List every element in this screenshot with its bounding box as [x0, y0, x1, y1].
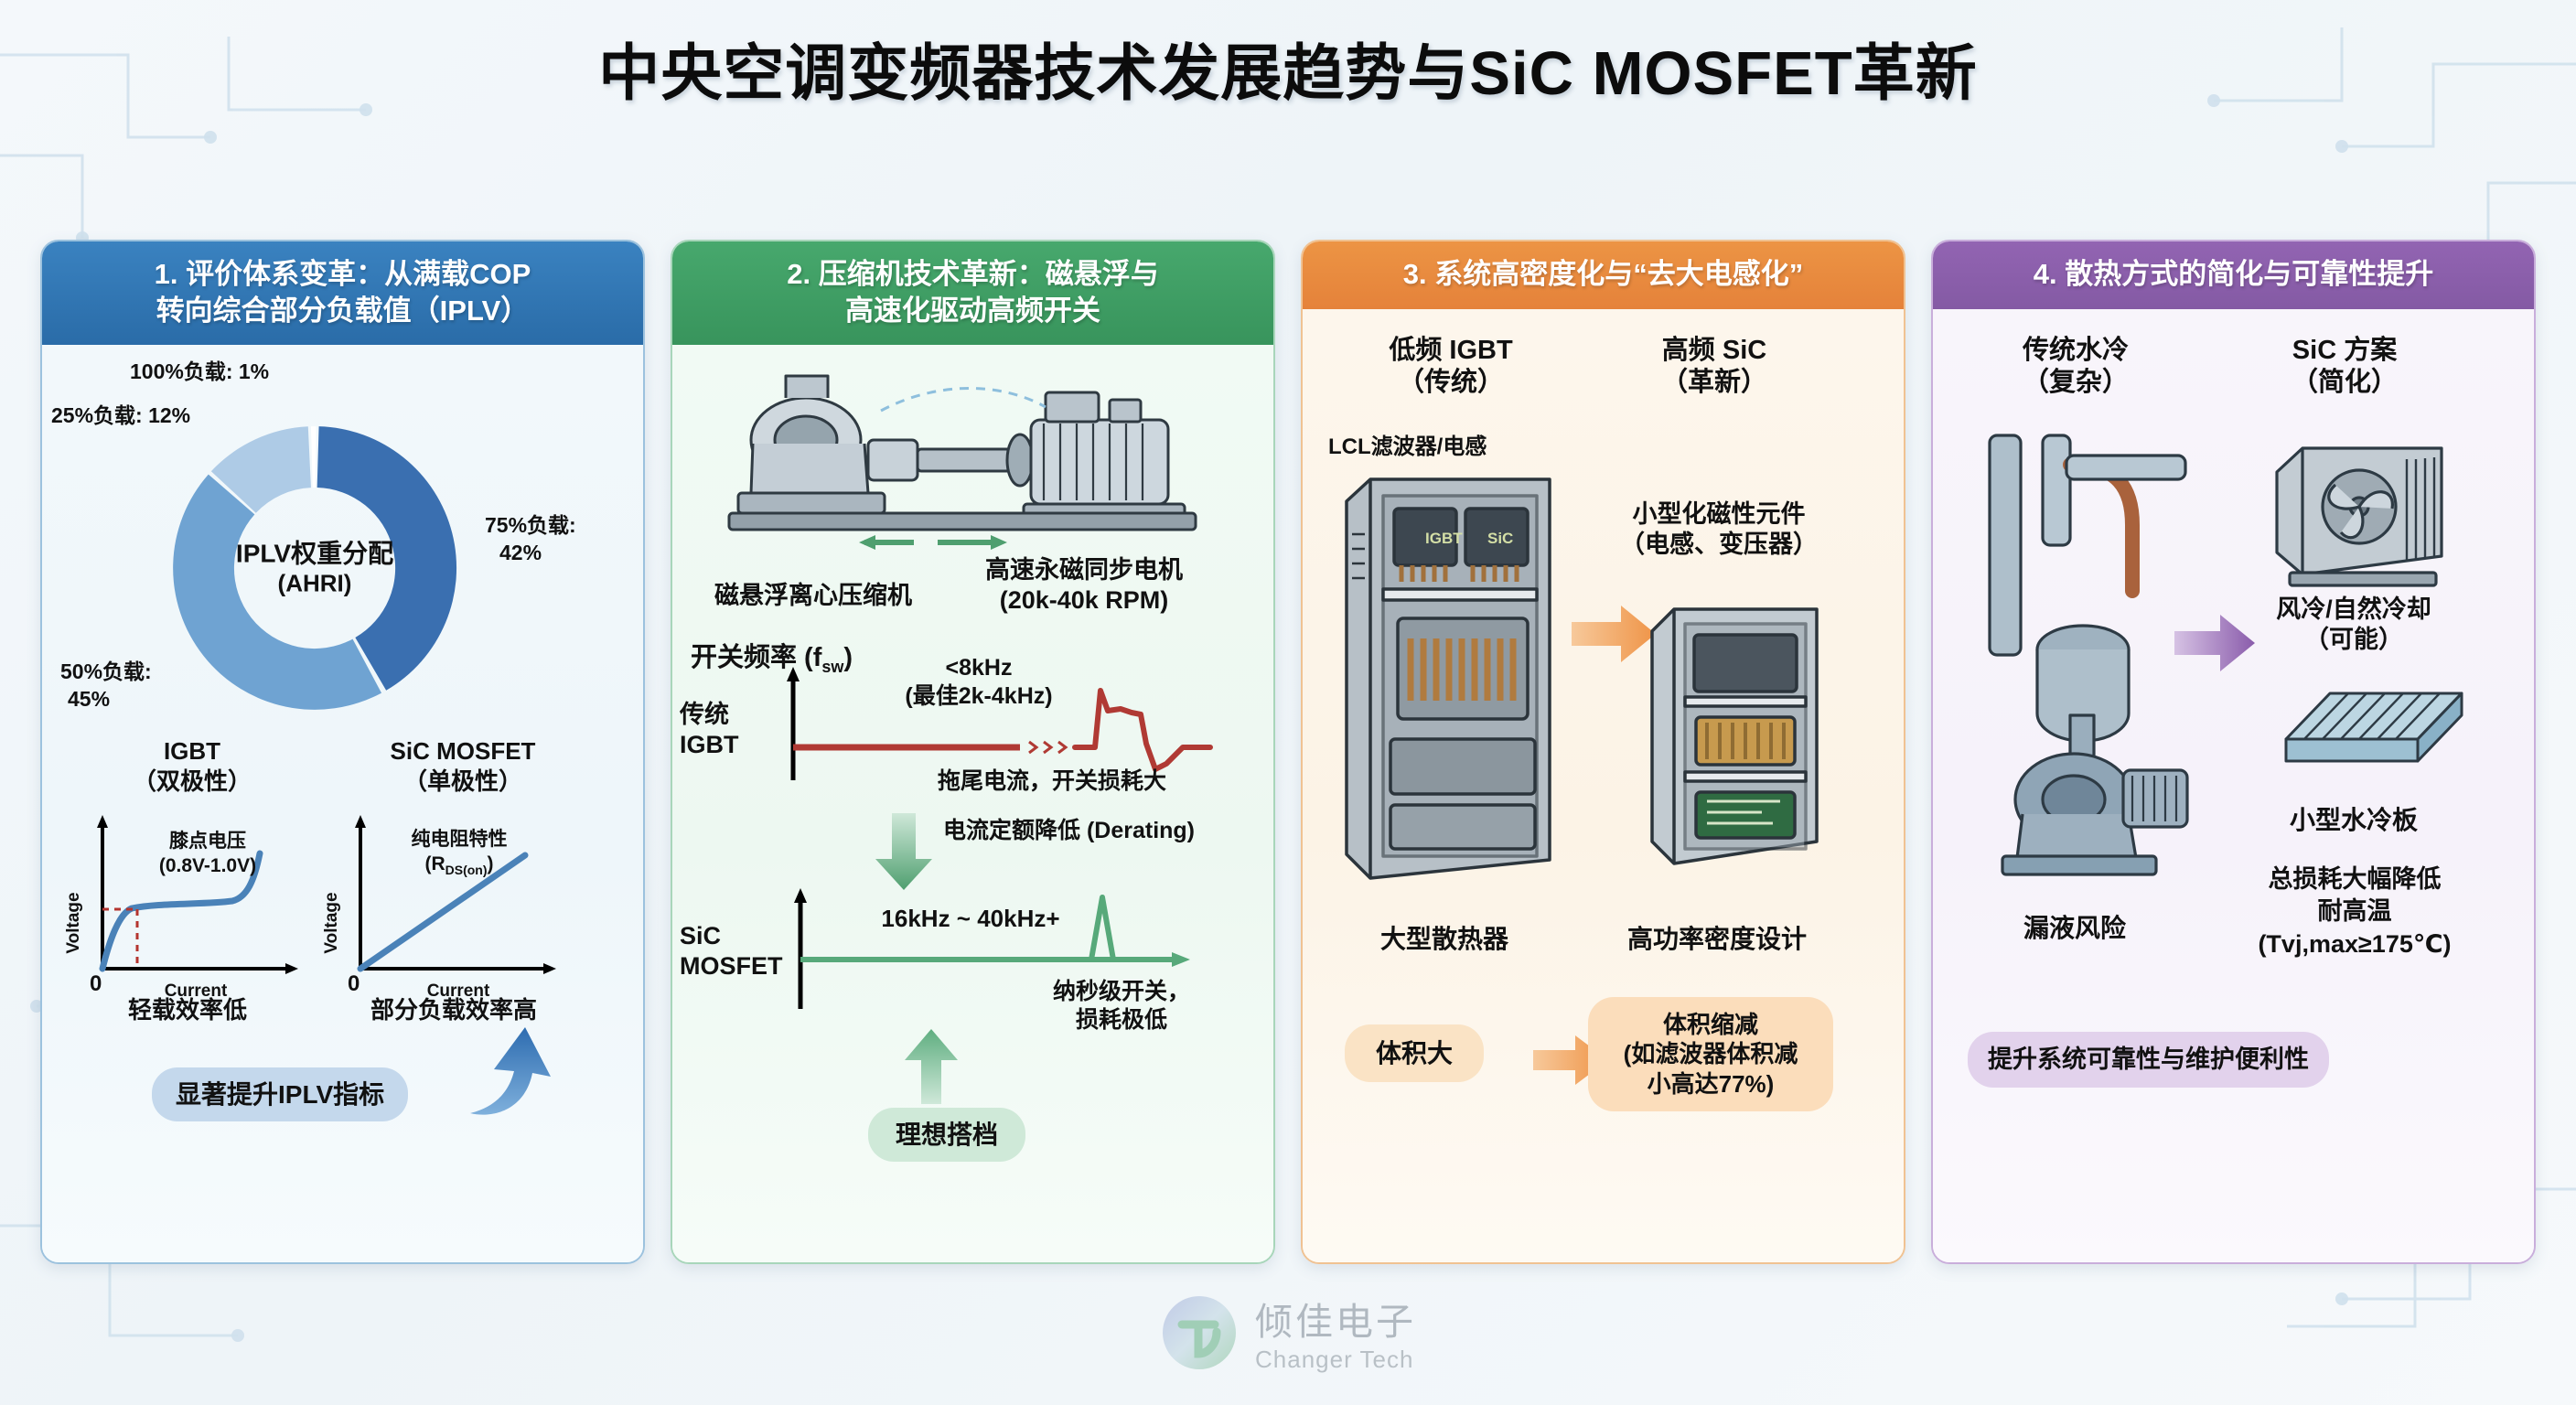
sic-nanosecond-note: 纳秒级开关， 损耗极低 — [1025, 978, 1218, 1034]
sic-row-name: SiC MOSFET — [680, 921, 789, 981]
donut-center-line2: (AHRI) — [236, 570, 393, 598]
pmsm-motor-caption: 高速永磁同步电机 (20k-40k RPM) — [947, 555, 1221, 616]
igbt-row-name: 传统 IGBT — [680, 700, 777, 760]
lcl-filter-label: LCL滤波器/电感 — [1328, 428, 1487, 460]
panel-2-compressor-tech: 2. 压缩机技术革新：磁悬浮与 高速化驱动高频开关 — [671, 240, 1275, 1264]
igbt-freq-note: <8kHz (最佳2k-4kHz) — [874, 654, 1084, 710]
igbt-row-name-l2: IGBT — [680, 730, 777, 760]
panel-1-body: 100%负载: 1% 25%负载: 12% 75%负载: 42% 50%负载: … — [42, 345, 643, 1262]
panel-1-header: 1. 评价体系变革：从满载COP 转向综合部分负载值（IPLV） — [42, 241, 643, 345]
air-cooled-outdoor-unit-illustration — [2262, 428, 2463, 593]
footer-logo: 倾佳电子 Changer Tech — [1160, 1291, 1416, 1374]
changer-tech-logo-icon — [1160, 1293, 1239, 1372]
page-title-wrap: 中央空调变频器技术发展趋势与SiC MOSFET革新 — [0, 24, 2576, 113]
watercooling-l2: （复杂） — [1966, 367, 2185, 399]
large-volume-pill: 体积大 — [1345, 1024, 1484, 1082]
high-freq-sic-l2: （革新） — [1605, 367, 1824, 399]
igbt-freq-l2: (最佳2k-4kHz) — [874, 682, 1084, 711]
large-igbt-cabinet-illustration: IGBT SiC — [1334, 465, 1562, 904]
air-cooling-label: 风冷/自然冷却 （可能） — [2235, 595, 2473, 655]
panel-3-high-density: 3. 系统高密度化与“去大电感化” 低频 IGBT （传统） 高频 SiC （革… — [1301, 240, 1905, 1264]
reliability-pill: 提升系统可靠性与维护便利性 — [1968, 1032, 2329, 1089]
pmsm-caption-l2: (20k-40k RPM) — [947, 585, 1221, 616]
air-cooling-l2: （可能） — [2235, 625, 2473, 655]
panel-3-body: 低频 IGBT （传统） 高频 SiC （革新） LCL滤波器/电感 — [1303, 309, 1904, 1262]
sic-solution-l1: SiC 方案 — [2235, 335, 2454, 367]
compact-cold-plate-illustration — [2273, 673, 2474, 792]
panels-row: 1. 评价体系变革：从满载COP 转向综合部分负载值（IPLV） 100%负载:… — [40, 240, 2536, 1264]
cold-plate-caption: 小型水冷板 — [2231, 805, 2476, 836]
high-freq-sic-l1: 高频 SiC — [1605, 335, 1824, 367]
derating-down-arrow-icon — [872, 810, 936, 892]
footer-brand-cn: 倾佳电子 — [1255, 1291, 1416, 1346]
igbt-knee-note-l2: (0.8V-1.0V) — [121, 854, 295, 878]
sic-resistive-note-l1: 纯电阻特性 — [368, 828, 551, 852]
iplv-donut-chart: IPLV权重分配 (AHRI) — [154, 407, 476, 729]
igbt-origin-label: 0 — [90, 971, 102, 996]
sic-solution-col-label: SiC 方案 （简化） — [2235, 335, 2454, 400]
sic-row-name-l1: SiC — [680, 921, 789, 951]
sic-origin-label: 0 — [348, 971, 360, 996]
panel-2-header-line1: 2. 压缩机技术革新：磁悬浮与 — [685, 256, 1261, 293]
cabinet-module-sic-label: SiC — [1487, 530, 1513, 547]
volume-reduction-l3: 小高达77%) — [1605, 1069, 1817, 1099]
panel-4-cooling-simplification: 4. 散热方式的简化与可靠性提升 传统水冷 （复杂） SiC 方案 （简化） — [1931, 240, 2536, 1264]
page-title: 中央空调变频器技术发展趋势与SiC MOSFET革新 — [0, 24, 2576, 113]
derating-label: 电流定额降低 (Derating) — [943, 817, 1227, 845]
panel-1-header-line2: 转向综合部分负载值（IPLV） — [55, 293, 630, 329]
igbt-knee-voltage-note: 膝点电压 (0.8V-1.0V) — [121, 830, 295, 878]
panel-1-header-line1: 1. 评价体系变革：从满载COP — [55, 256, 630, 293]
igbt-freq-l1: <8kHz — [874, 654, 1084, 682]
panel-4-header: 4. 散热方式的简化与可靠性提升 — [1933, 241, 2534, 309]
high-freq-sic-col-label: 高频 SiC （革新） — [1605, 335, 1824, 400]
compact-sic-cabinet-illustration — [1643, 593, 1826, 885]
footer-brand-en: Changer Tech — [1255, 1346, 1416, 1374]
pie-label-load-75-line2: 42% — [499, 541, 542, 566]
panel-3-header-text: 3. 系统高密度化与“去大电感化” — [1315, 256, 1891, 293]
pie-label-load-50-line2: 45% — [68, 687, 110, 713]
sic-caption: 部分负载效率高 — [317, 996, 591, 1025]
panel-4-header-text: 4. 散热方式的简化与可靠性提升 — [1946, 256, 2521, 293]
sic-thermal-benefits-note: 总损耗大幅降低 耐高温 (Tvj,max≥175℃) — [2227, 863, 2482, 961]
small-magnetics-label: 小型化磁性元件 （电感、变压器） — [1605, 499, 1833, 560]
igbt-caption: 轻载效率低 — [64, 996, 311, 1025]
footer-text: 倾佳电子 Changer Tech — [1255, 1291, 1416, 1374]
donut-slice-100-load — [311, 426, 317, 488]
donut-center-line1: IPLV权重分配 — [236, 539, 393, 570]
volume-reduction-l2: (如滤波器体积减 — [1605, 1039, 1817, 1069]
sic-rdson-subscript: DS(on) — [445, 863, 488, 877]
sic-resistive-note-l2: (RDS(on)) — [368, 853, 551, 879]
igbt-knee-note-l1: 膝点电压 — [121, 830, 295, 853]
cabinet-module-igbt-label: IGBT — [1425, 530, 1463, 547]
sic-ns-note-l1: 纳秒级开关， — [1025, 978, 1218, 1006]
panel-2-header: 2. 压缩机技术革新：磁悬浮与 高速化驱动高频开关 — [672, 241, 1273, 345]
leak-risk-caption: 漏液风险 — [1960, 913, 2189, 944]
sic-freq-note: 16kHz ~ 40kHz+ — [833, 905, 1108, 934]
pie-label-load-100: 100%负载: 1% — [130, 359, 269, 385]
sic-iv-title-l1: SiC MOSFET — [335, 736, 591, 767]
low-freq-igbt-l1: 低频 IGBT — [1341, 335, 1561, 367]
volume-reduction-l1: 体积缩减 — [1605, 1010, 1817, 1040]
water-cooling-loop-illustration — [1953, 419, 2209, 895]
thermal-benefit-l2: 耐高温 — [2227, 896, 2482, 928]
iplv-upward-arrow-icon — [463, 1022, 573, 1122]
pie-label-load-75-line1: 75%负载: — [485, 513, 576, 539]
watercooling-l1: 传统水冷 — [1966, 335, 2185, 367]
low-freq-igbt-col-label: 低频 IGBT （传统） — [1341, 335, 1561, 400]
maglev-compressor-caption: 磁悬浮离心压缩机 — [685, 581, 941, 611]
thermal-benefit-l1: 总损耗大幅降低 — [2227, 863, 2482, 896]
donut-center-label: IPLV权重分配 (AHRI) — [236, 539, 393, 598]
panel-1-evaluation-system: 1. 评价体系变革：从满载COP 转向综合部分负载值（IPLV） 100%负载:… — [40, 240, 645, 1264]
high-power-density-caption: 高功率密度设计 — [1594, 924, 1841, 955]
sic-iv-title-l2: （单极性） — [335, 767, 591, 797]
panel-2-header-line2: 高速化驱动高频开关 — [685, 293, 1261, 329]
air-cooling-l1: 风冷/自然冷却 — [2235, 595, 2473, 625]
thermal-benefit-l3: (Tvj,max≥175℃) — [2227, 928, 2482, 961]
panel-4-body: 传统水冷 （复杂） SiC 方案 （简化） — [1933, 309, 2534, 1262]
sic-iv-title: SiC MOSFET （单极性） — [335, 736, 591, 796]
ideal-match-up-arrow-icon — [901, 1027, 961, 1106]
large-heatsink-caption: 大型散热器 — [1330, 924, 1559, 955]
low-freq-igbt-l2: （传统） — [1341, 367, 1561, 399]
iplv-improvement-pill: 显著提升IPLV指标 — [152, 1067, 408, 1121]
igbt-iv-title: IGBT （双极性） — [82, 736, 302, 796]
igbt-row-name-l1: 传统 — [680, 700, 777, 730]
pmsm-caption-l1: 高速永磁同步电机 — [947, 555, 1221, 585]
sic-y-axis-label: Voltage — [322, 893, 341, 954]
panel-2-body: 磁悬浮离心压缩机 高速永磁同步电机 (20k-40k RPM) 开关频率 (fs… — [672, 345, 1273, 1262]
sic-row-name-l2: MOSFET — [680, 951, 789, 981]
igbt-iv-title-l1: IGBT — [82, 736, 302, 767]
igbt-y-axis-label: Voltage — [64, 893, 83, 954]
sic-solution-l2: （简化） — [2235, 367, 2454, 399]
ideal-match-pill: 理想搭档 — [868, 1108, 1025, 1162]
traditional-watercooling-col-label: 传统水冷 （复杂） — [1966, 335, 2185, 400]
igbt-tail-current-note: 拖尾电流，开关损耗大 — [901, 767, 1203, 796]
igbt-iv-title-l2: （双极性） — [82, 767, 302, 797]
panel-3-header: 3. 系统高密度化与“去大电感化” — [1303, 241, 1904, 309]
volume-reduction-pill: 体积缩减 (如滤波器体积减 小高达77%) — [1588, 997, 1833, 1112]
small-magnetics-l1: 小型化磁性元件 — [1605, 499, 1833, 530]
small-magnetics-l2: （电感、变压器） — [1605, 530, 1833, 560]
sic-ns-note-l2: 损耗极低 — [1025, 1006, 1218, 1035]
pie-label-load-50-line1: 50%负载: — [60, 660, 152, 685]
sic-resistive-note: 纯电阻特性 (RDS(on)) — [368, 828, 551, 878]
